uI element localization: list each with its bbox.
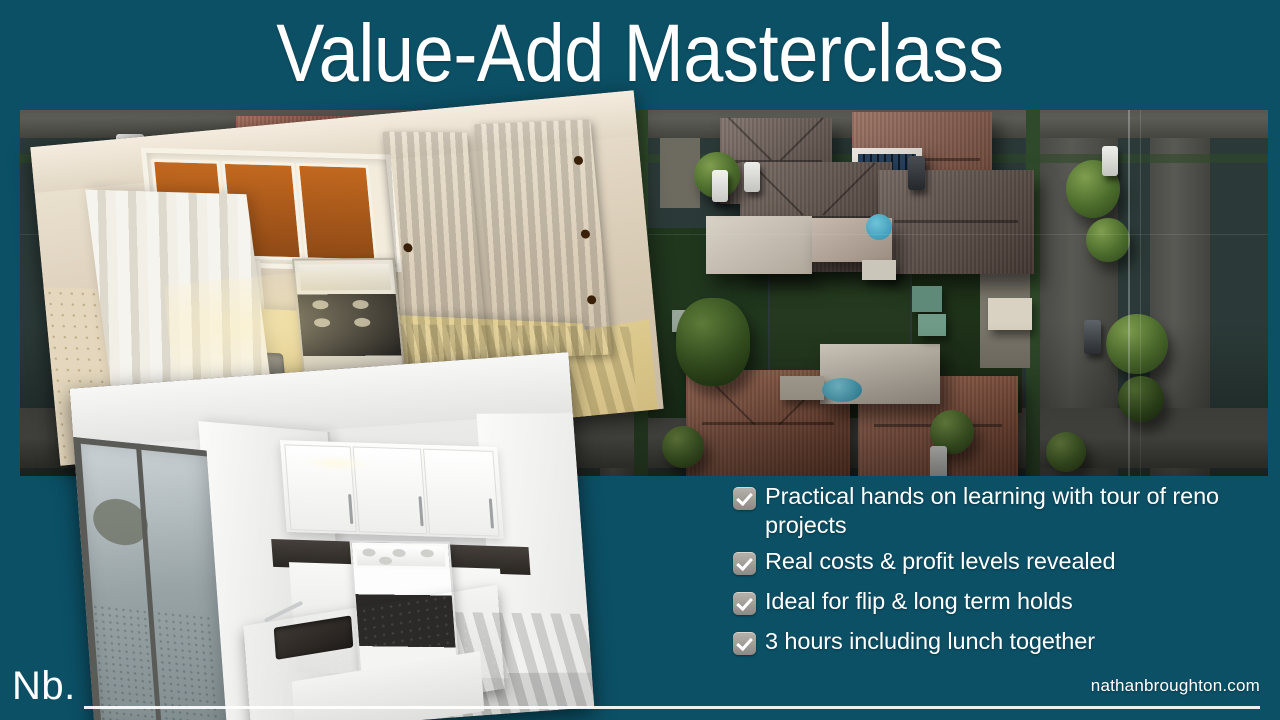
list-item: 3 hours including lunch together (733, 627, 1233, 656)
presentation-slide: Value-Add Masterclass (0, 0, 1280, 720)
after-kitchen-photo (70, 352, 595, 720)
list-item: Ideal for flip & long term holds (733, 587, 1233, 616)
left-teal-edge (0, 108, 20, 478)
right-teal-edge (1268, 108, 1280, 478)
feature-bullet-list: Practical hands on learning with tour of… (733, 482, 1233, 667)
checkbox-checked-icon (733, 632, 756, 655)
bullet-label: Practical hands on learning with tour of… (765, 482, 1233, 540)
website-url: nathanbroughton.com (1091, 676, 1260, 696)
footer-divider (84, 706, 1260, 709)
list-item: Practical hands on learning with tour of… (733, 482, 1233, 540)
bullet-label: 3 hours including lunch together (765, 627, 1095, 656)
page-title: Value-Add Masterclass (77, 6, 1203, 102)
bullet-label: Ideal for flip & long term holds (765, 587, 1073, 616)
list-item: Real costs & profit levels revealed (733, 547, 1233, 576)
bullet-label: Real costs & profit levels revealed (765, 547, 1115, 576)
checkbox-checked-icon (733, 552, 756, 575)
checkbox-checked-icon (733, 487, 756, 510)
checkbox-checked-icon (733, 592, 756, 615)
brand-logo: Nb. (12, 666, 76, 706)
